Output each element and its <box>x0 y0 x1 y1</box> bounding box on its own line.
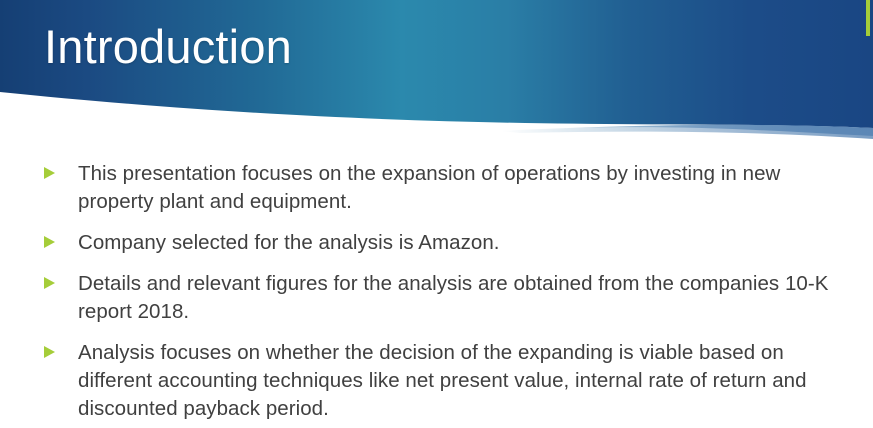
page-title: Introduction <box>44 20 292 74</box>
green-accent-bar <box>866 0 870 36</box>
list-item-text: Details and relevant figures for the ana… <box>78 270 847 326</box>
list-item: Analysis focuses on whether the decision… <box>0 339 873 423</box>
green-triangle-bullet-icon <box>44 339 78 358</box>
list-item-text: This presentation focuses on the expansi… <box>78 160 847 216</box>
green-triangle-bullet-icon <box>44 160 78 179</box>
slide-body-content: This presentation focuses on the expansi… <box>0 160 873 428</box>
green-triangle-bullet-icon <box>44 270 78 289</box>
list-item: Details and relevant figures for the ana… <box>0 270 873 326</box>
list-item-text: Analysis focuses on whether the decision… <box>78 339 847 423</box>
list-item: This presentation focuses on the expansi… <box>0 160 873 216</box>
green-triangle-bullet-icon <box>44 229 78 248</box>
list-item-text: Company selected for the analysis is Ama… <box>78 229 847 257</box>
list-item: Company selected for the analysis is Ama… <box>0 229 873 257</box>
presentation-slide: Introduction This presentation focuses o… <box>0 0 873 428</box>
